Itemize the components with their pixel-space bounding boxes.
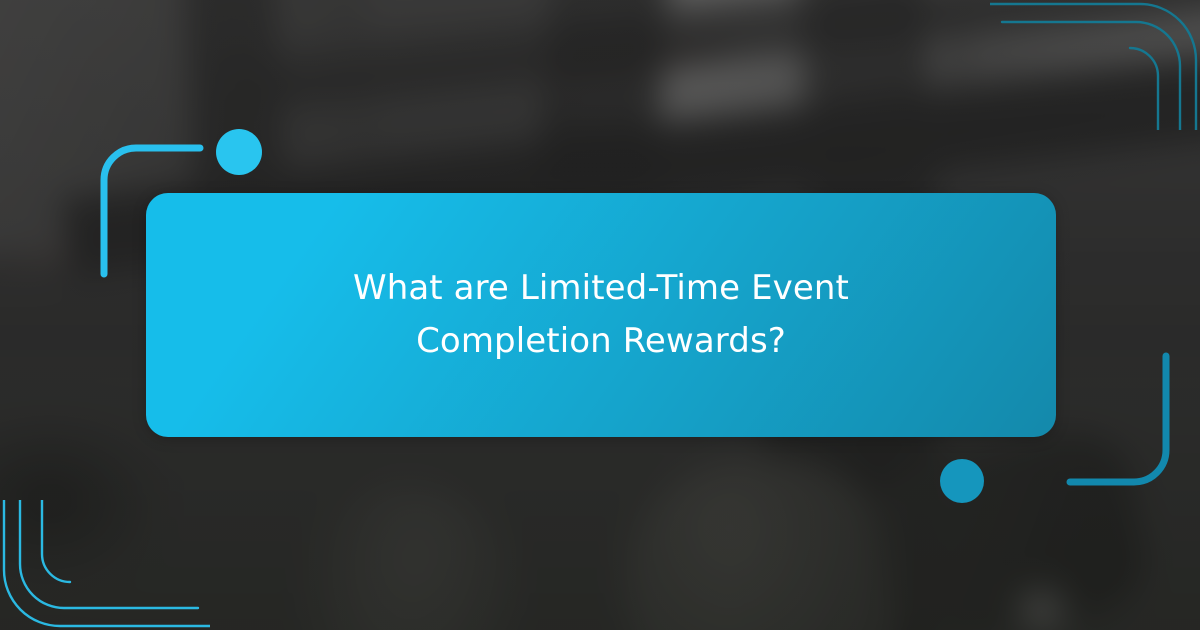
- question-card: What are Limited-Time Event Completion R…: [146, 193, 1056, 437]
- promo-banner: What are Limited-Time Event Completion R…: [0, 0, 1200, 630]
- decorative-dot-top: [216, 129, 262, 175]
- question-title: What are Limited-Time Event Completion R…: [251, 262, 951, 367]
- decorative-dot-bottom: [940, 459, 984, 503]
